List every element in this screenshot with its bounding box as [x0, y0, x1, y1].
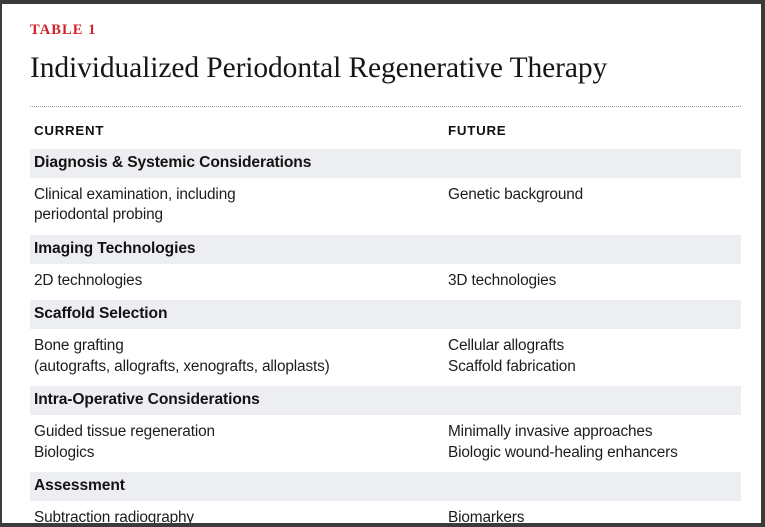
section-heading: Imaging Technologies: [30, 235, 741, 264]
table-title: Individualized Periodontal Regenerative …: [30, 52, 741, 86]
cell-line: Guided tissue regeneration: [34, 422, 434, 442]
section-heading: Assessment: [30, 472, 741, 501]
cell-line: Biomarkers: [448, 508, 731, 527]
table-row: Bone grafting(autografts, allografts, xe…: [30, 329, 741, 386]
cell-line: 3D technologies: [448, 271, 731, 291]
section-header-row: Assessment: [30, 472, 741, 501]
table-row: 2D technologies3D technologies: [30, 264, 741, 300]
column-header-future: FUTURE: [444, 123, 741, 149]
cell-line: Subtraction radiography: [34, 508, 434, 527]
cell-future: 3D technologies: [444, 264, 741, 300]
cell-line: 2D technologies: [34, 271, 434, 291]
section-header-row: Intra-Operative Considerations: [30, 386, 741, 415]
comparison-table: CURRENT FUTURE Diagnosis & Systemic Cons…: [30, 123, 741, 527]
cell-current: Clinical examination, includingperiodont…: [30, 178, 444, 235]
section-header-row: Diagnosis & Systemic Considerations: [30, 149, 741, 178]
cell-line: Biologics: [34, 443, 434, 463]
table-row: Subtraction radiographyBiomarkers: [30, 501, 741, 527]
section-heading: Diagnosis & Systemic Considerations: [30, 149, 741, 178]
cell-current: Guided tissue regenerationBiologics: [30, 415, 444, 472]
cell-line: Biologic wound-healing enhancers: [448, 443, 731, 463]
cell-future: Cellular allograftsScaffold fabrication: [444, 329, 741, 386]
cell-line: (autografts, allografts, xenografts, all…: [34, 357, 434, 377]
cell-future: Minimally invasive approachesBiologic wo…: [444, 415, 741, 472]
cell-current: Bone grafting(autografts, allografts, xe…: [30, 329, 444, 386]
cell-line: Scaffold fabrication: [448, 357, 731, 377]
cell-current: 2D technologies: [30, 264, 444, 300]
table-number-label: TABLE 1: [30, 4, 741, 39]
section-header-row: Scaffold Selection: [30, 300, 741, 329]
column-header-current: CURRENT: [30, 123, 444, 149]
table-figure: TABLE 1 Individualized Periodontal Regen…: [0, 0, 765, 527]
table-body: Diagnosis & Systemic ConsiderationsClini…: [30, 149, 741, 527]
section-heading: Intra-Operative Considerations: [30, 386, 741, 415]
section-header-row: Imaging Technologies: [30, 235, 741, 264]
cell-line: Cellular allografts: [448, 336, 731, 356]
cell-line: Clinical examination, including: [34, 185, 434, 205]
figure-inner: TABLE 1 Individualized Periodontal Regen…: [2, 4, 761, 523]
section-heading: Scaffold Selection: [30, 300, 741, 329]
cell-future: Genetic background: [444, 178, 741, 235]
title-divider: [30, 106, 741, 107]
cell-line: periodontal probing: [34, 205, 434, 225]
cell-line: Genetic background: [448, 185, 731, 205]
table-row: Guided tissue regenerationBiologicsMinim…: [30, 415, 741, 472]
table-row: Clinical examination, includingperiodont…: [30, 178, 741, 235]
cell-future: Biomarkers: [444, 501, 741, 527]
table-header-row: CURRENT FUTURE: [30, 123, 741, 149]
cell-current: Subtraction radiography: [30, 501, 444, 527]
cell-line: Bone grafting: [34, 336, 434, 356]
cell-line: Minimally invasive approaches: [448, 422, 731, 442]
